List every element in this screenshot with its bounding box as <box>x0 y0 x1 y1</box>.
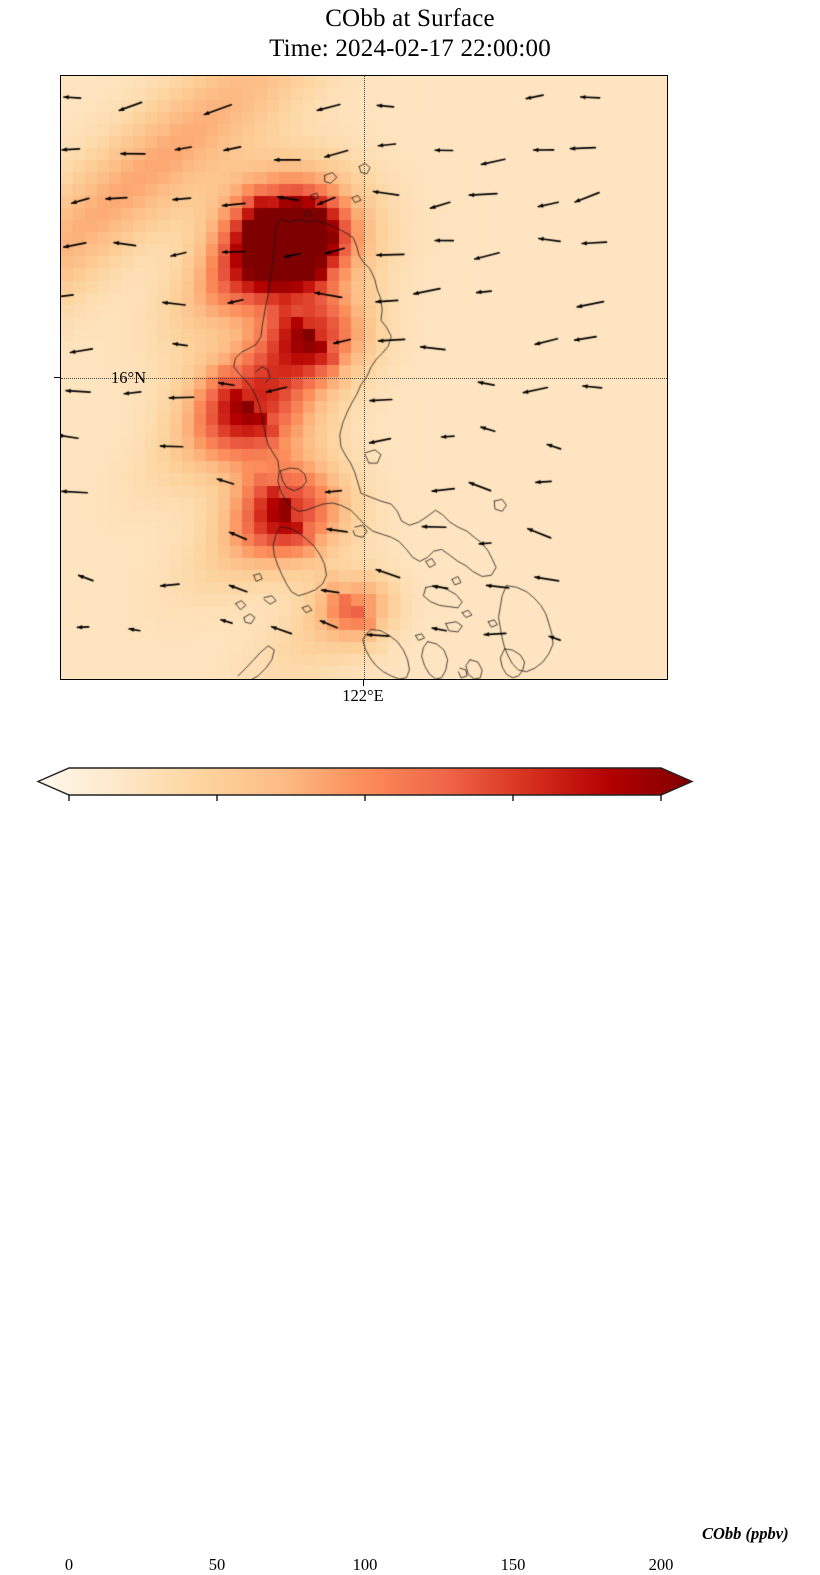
colorbar-tick-label: 100 <box>353 1555 378 1575</box>
map-axes[interactable] <box>60 75 668 680</box>
colorbar-label: CObb (ppbv) <box>702 1524 789 1544</box>
latitude-tick <box>54 377 60 378</box>
colorbar-tick-label: 150 <box>501 1555 526 1575</box>
latitude-axis-label: 16°N <box>111 368 146 388</box>
colorbar-tick-marks <box>69 795 661 801</box>
figure-title: CObb at Surface Time: 2024-02-17 22:00:0… <box>0 4 820 63</box>
title-line-variable: CObb at Surface <box>0 4 820 34</box>
colorbar-tick-label: 50 <box>209 1555 226 1575</box>
longitude-axis-label-text: 122°E <box>342 686 383 705</box>
colorbar[interactable]: CObb (ppbv) 050100150200 <box>0 755 820 839</box>
concentration-field-canvas <box>61 76 667 679</box>
colorbar-tick-label: 200 <box>649 1555 674 1575</box>
colorbar-gradient-bar <box>38 768 692 795</box>
longitude-axis-label: 122°E <box>0 686 820 706</box>
title-line-time: Time: 2024-02-17 22:00:00 <box>0 34 820 64</box>
colorbar-tick-label: 0 <box>65 1555 73 1575</box>
colorbar-svg <box>0 755 820 839</box>
